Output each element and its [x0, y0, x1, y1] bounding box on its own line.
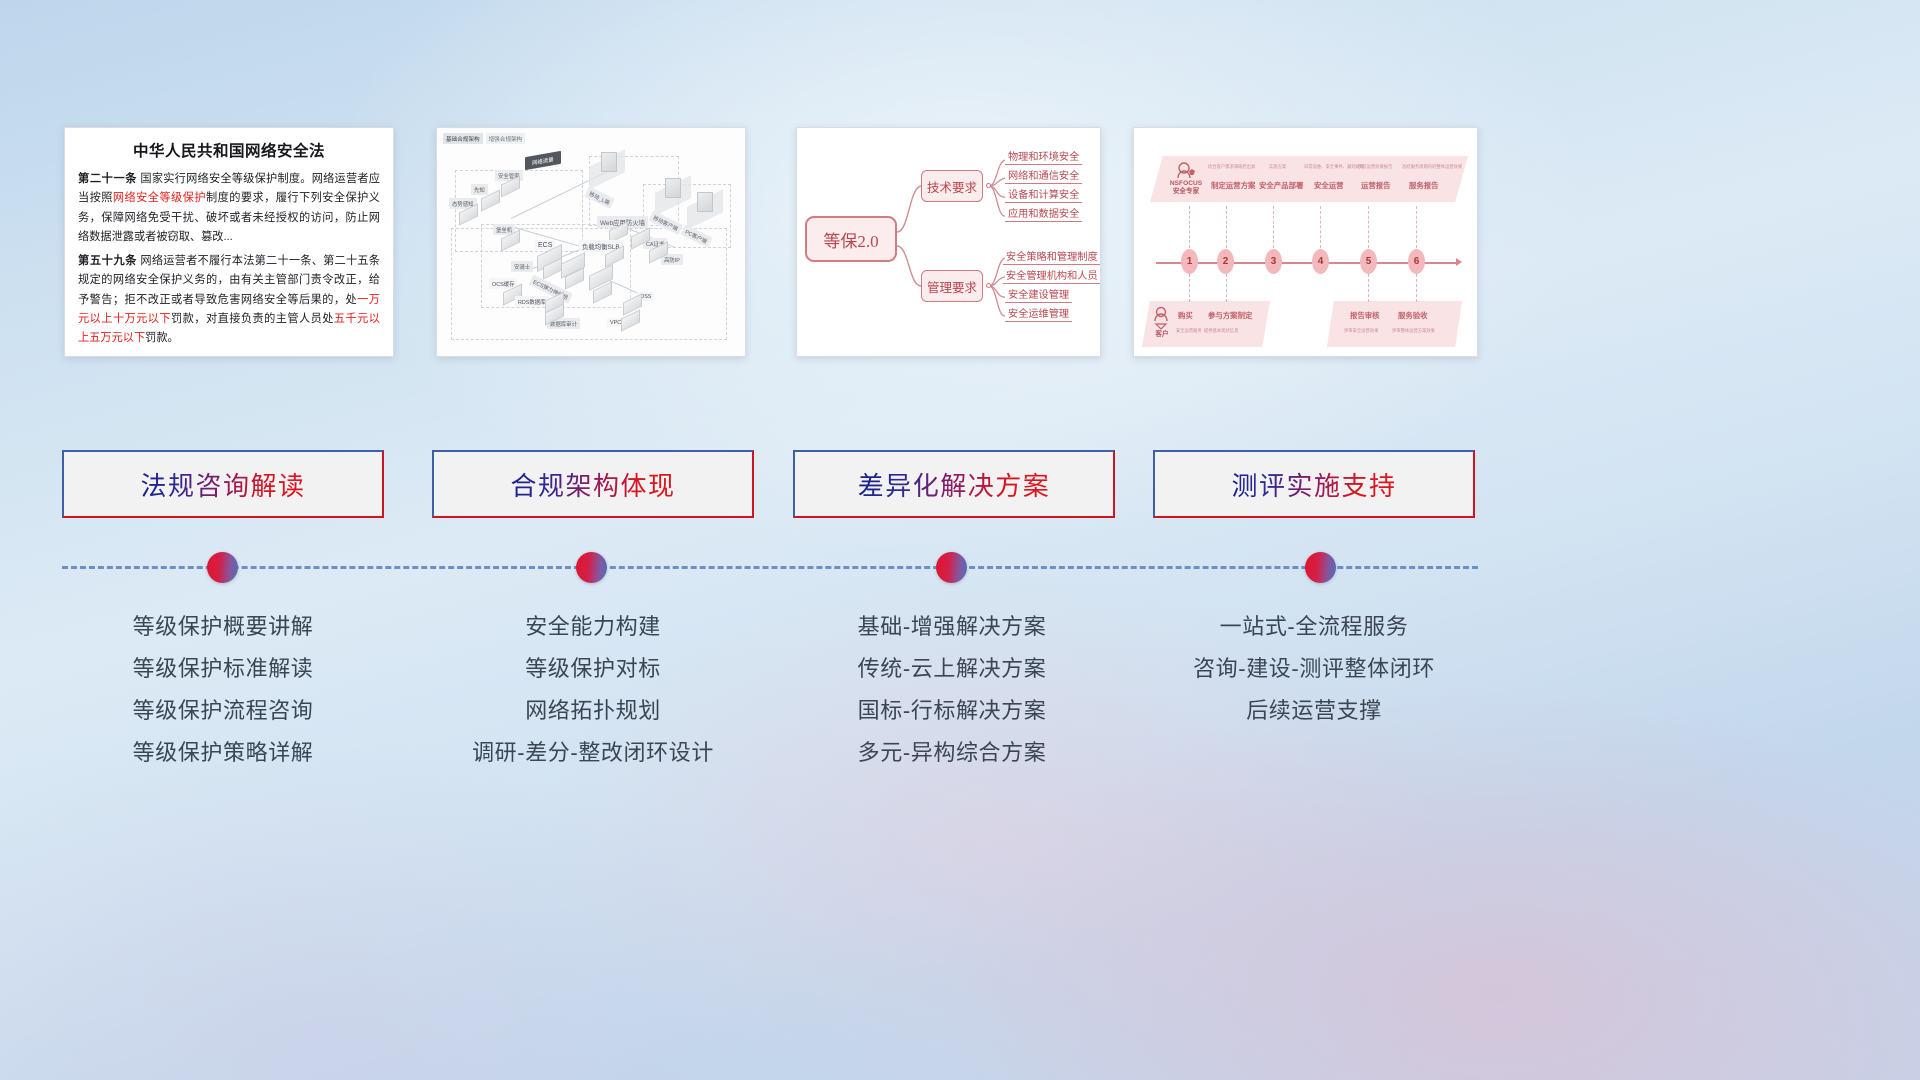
mindmap-leaf-tech-3: 设备和计算安全	[1005, 186, 1082, 203]
top-sub-3: 实施方案	[1269, 164, 1286, 170]
arch-tab-basic[interactable]: 基础合规架构	[443, 133, 483, 144]
timeline-step-6: 6	[1408, 249, 1425, 274]
person-icons	[1134, 128, 1478, 357]
bottom-title-2: 参与方案制定	[1208, 310, 1252, 321]
column-3-item-1: 基础-增强解决方案	[762, 606, 1142, 648]
top-title-5: 运营报告	[1361, 180, 1391, 191]
arch-label-xianzhi: 先知	[471, 184, 488, 195]
column-1-item-3: 等级保护流程咨询	[33, 690, 413, 732]
leader-b2	[1226, 274, 1227, 302]
timeline-step-4: 4	[1312, 249, 1329, 274]
arch-icon-mobile	[601, 152, 617, 172]
column-1: 等级保护概要讲解 等级保护标准解读 等级保护流程咨询 等级保护策略详解	[33, 606, 413, 774]
card-architecture-diagram: 基础合规架构 增强合规架构 移动_L端 移动客户端 PC客户端 网络流量	[436, 127, 746, 357]
leader-5	[1368, 206, 1369, 248]
column-4-item-2: 咨询-建设-测评整体闭环	[1124, 648, 1504, 690]
architecture-canvas: 基础合规架构 增强合规架构 移动_L端 移动客户端 PC客户端 网络流量	[437, 128, 745, 356]
timeline-arrow-icon	[1456, 258, 1462, 266]
arch-tab-enhanced[interactable]: 增强合规架构	[486, 133, 526, 144]
leader-6	[1416, 206, 1417, 248]
column-4-item-1: 一站式-全流程服务	[1124, 606, 1504, 648]
banner-label-2: 合规架构体现	[510, 466, 675, 503]
mindmap-leaf-mgmt-2: 安全管理机构和人员	[1003, 267, 1101, 284]
banner-box-1[interactable]: 法规咨询解读	[62, 450, 384, 518]
bottom-title-3: 报告审核	[1350, 310, 1380, 321]
banner-box-3[interactable]: 差异化解决方案	[793, 450, 1115, 518]
arch-label-traffic: 网络流量	[525, 151, 561, 170]
article-59-text-c: 罚款。	[145, 332, 179, 344]
column-4: 一站式-全流程服务 咨询-建设-测评整体闭环 后续运营支撑	[1124, 606, 1504, 732]
timeline-node-3[interactable]	[936, 552, 967, 583]
arch-label-rds: RDS数据库	[515, 296, 549, 307]
banner-label-3: 差异化解决方案	[858, 466, 1051, 503]
top-title-6: 服务报告	[1409, 180, 1439, 191]
leader-1	[1189, 206, 1190, 248]
top-sub-4: 日常运维、安全事件、漏洞处理	[1304, 164, 1364, 170]
timeline-step-1: 1	[1181, 249, 1198, 274]
mindmap-branch-management: 管理要求	[921, 270, 983, 302]
service-timeline-canvas: NSFOCUS安全专家 客户 1 2 3 4 5 6 结合客户需求调研后出具 实…	[1134, 128, 1477, 356]
law-article-21: 第二十一条 国家实行网络安全等级保护制度。网络运营者应当按照网络安全等级保护制度…	[78, 170, 380, 247]
column-1-item-2: 等级保护标准解读	[33, 648, 413, 690]
column-2-item-1: 安全能力构建	[403, 606, 783, 648]
card-law-text: 中华人民共和国网络安全法 第二十一条 国家实行网络安全等级保护制度。网络运营者应…	[64, 127, 394, 357]
timeline-dashed-line	[62, 566, 1478, 569]
column-3: 基础-增强解决方案 传统-云上解决方案 国标-行标解决方案 多元-异构综合方案	[762, 606, 1142, 774]
banner-box-4[interactable]: 测评实施支持	[1153, 450, 1475, 518]
column-4-item-3: 后续运营支撑	[1124, 690, 1504, 732]
arch-label-anqishi: 安骑士	[511, 261, 533, 272]
card-mindmap: 等保2.0 技术要求 物理和环境安全 网络和通信安全 设备和计算安全 应用和数据…	[796, 127, 1101, 357]
top-title-2: 制定运营方案	[1211, 180, 1255, 191]
role-customer: 客户	[1148, 328, 1176, 338]
column-3-item-3: 国标-行标解决方案	[762, 690, 1142, 732]
column-3-item-2: 传统-云上解决方案	[762, 648, 1142, 690]
mindmap-dot-technical	[986, 183, 991, 188]
column-2-item-4: 调研-差分-整改闭环设计	[403, 732, 783, 774]
leader-b1	[1189, 274, 1190, 302]
arch-icon-pc	[697, 192, 713, 212]
timeline-step-5: 5	[1360, 249, 1377, 274]
mindmap-root: 等保2.0	[805, 216, 897, 262]
mindmap-leaf-mgmt-1: 安全策略和管理制度	[1003, 248, 1101, 265]
article-21-highlight: 网络安全等级保护	[113, 192, 206, 204]
column-1-item-4: 等级保护策略详解	[33, 732, 413, 774]
column-2-item-2: 等级保护对标	[403, 648, 783, 690]
arch-icon-mobile-client	[665, 178, 681, 198]
top-sub-6: 总结服务周期内的整体运营效果	[1402, 164, 1462, 170]
mindmap-leaf-tech-4: 应用和数据安全	[1005, 205, 1082, 222]
mindmap-leaf-mgmt-3: 安全建设管理	[1005, 286, 1072, 303]
bottom-title-4: 服务验收	[1398, 310, 1428, 321]
role-expert: NSFOCUS安全专家	[1160, 180, 1212, 196]
mindmap-dot-management	[986, 283, 991, 288]
column-2: 安全能力构建 等级保护对标 网络拓扑规划 调研-差分-整改闭环设计	[403, 606, 783, 774]
bottom-sub-2: 提供基本现状信息	[1204, 328, 1238, 334]
leader-2	[1226, 206, 1227, 248]
architecture-tabs: 基础合规架构 增强合规架构	[443, 133, 525, 144]
leader-3	[1273, 206, 1274, 248]
card-service-timeline: NSFOCUS安全专家 客户 1 2 3 4 5 6 结合客户需求调研后出具 实…	[1133, 127, 1478, 357]
mindmap-branch-technical: 技术要求	[921, 170, 983, 202]
column-1-item-1: 等级保护概要讲解	[33, 606, 413, 648]
bottom-title-1: 购买	[1178, 310, 1193, 321]
banner-box-2[interactable]: 合规架构体现	[432, 450, 754, 518]
leader-4	[1320, 206, 1321, 248]
mindmap-canvas: 等保2.0 技术要求 物理和环境安全 网络和通信安全 设备和计算安全 应用和数据…	[797, 128, 1100, 356]
top-sub-2: 结合客户需求调研后出具	[1208, 164, 1255, 170]
top-title-4: 安全运营	[1314, 180, 1344, 191]
slide-canvas: 中华人民共和国网络安全法 第二十一条 国家实行网络安全等级保护制度。网络运营者应…	[0, 0, 1920, 1080]
top-sub-5: 阶段运营效果报告	[1358, 164, 1392, 170]
law-title: 中华人民共和国网络安全法	[78, 139, 380, 161]
column-2-item-3: 网络拓扑规划	[403, 690, 783, 732]
timeline-node-4[interactable]	[1305, 552, 1336, 583]
article-59-label: 第五十九条	[78, 255, 137, 267]
timeline-step-3: 3	[1265, 249, 1282, 274]
bottom-sub-3: 评审安全运营效果	[1344, 328, 1378, 334]
timeline-node-1[interactable]	[207, 552, 238, 583]
article-21-label: 第二十一条	[78, 173, 137, 185]
leader-b4	[1416, 274, 1417, 302]
banner-label-4: 测评实施支持	[1231, 466, 1396, 503]
top-title-3: 安全产品部署	[1259, 180, 1303, 191]
law-content: 中华人民共和国网络安全法 第二十一条 国家实行网络安全等级保护制度。网络运营者应…	[65, 128, 393, 348]
mindmap-leaf-tech-2: 网络和通信安全	[1005, 167, 1082, 184]
bottom-sub-1: 安全运营服务	[1176, 328, 1202, 334]
leader-b3	[1368, 274, 1369, 302]
article-59-text-b: 罚款，对直接负责的主管人员处	[171, 313, 334, 325]
mindmap-leaf-mgmt-4: 安全运维管理	[1005, 305, 1072, 322]
mindmap-leaf-tech-1: 物理和环境安全	[1005, 148, 1082, 165]
column-3-item-4: 多元-异构综合方案	[762, 732, 1142, 774]
banner-label-1: 法规咨询解读	[140, 466, 305, 503]
law-article-59: 第五十九条 网络运营者不履行本法第二十一条、第二十五条规定的网络安全保护义务的，…	[78, 252, 380, 348]
timeline-step-2: 2	[1217, 249, 1234, 274]
bottom-sub-4: 评审整体运营方案效果	[1392, 328, 1435, 334]
timeline-node-2[interactable]	[576, 552, 607, 583]
